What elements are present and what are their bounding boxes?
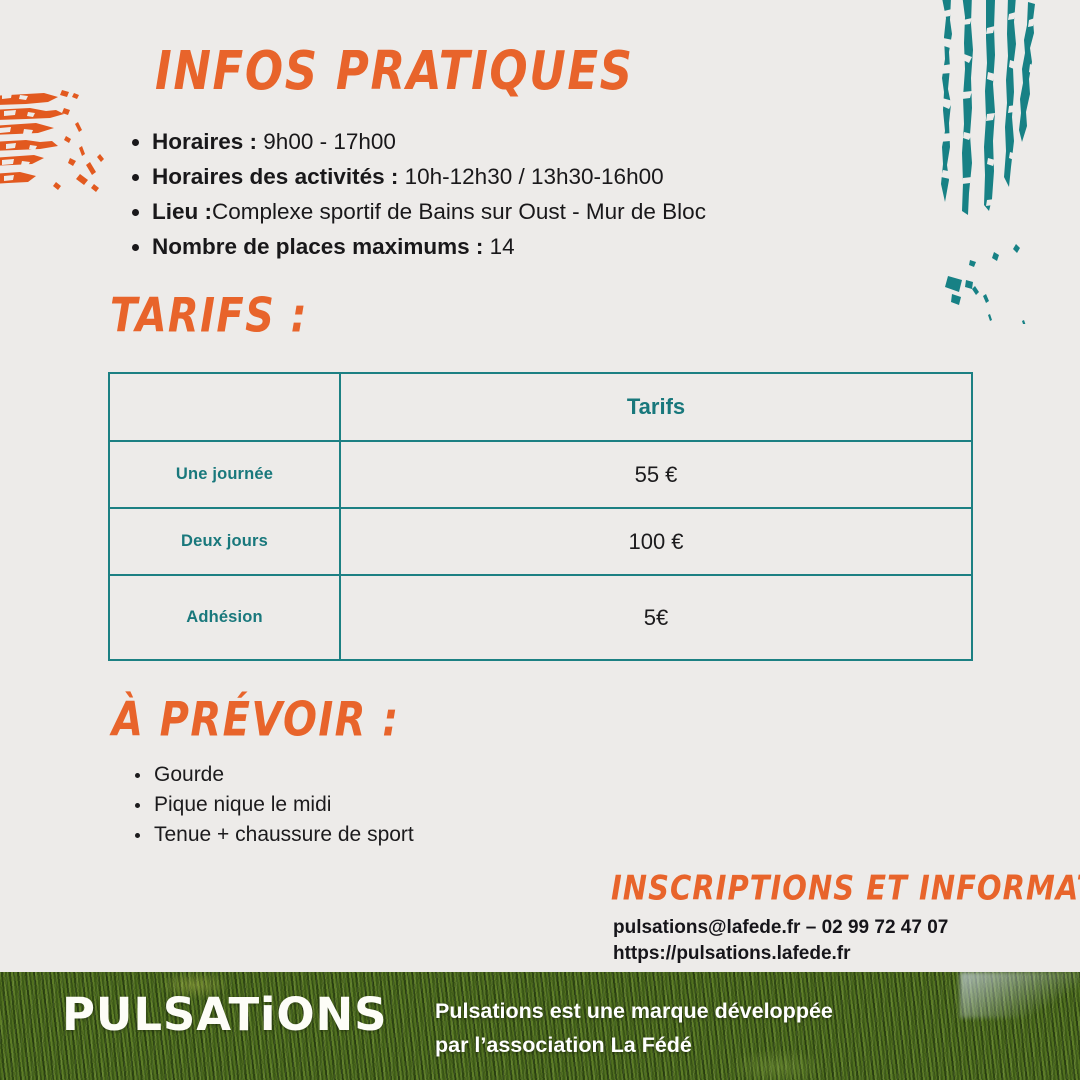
info-label: Nombre de places maximums : bbox=[152, 234, 483, 259]
tarif-value: 5€ bbox=[340, 575, 972, 660]
infos-pratiques-list: Horaires : 9h00 - 17h00 Horaires des act… bbox=[128, 124, 958, 264]
tarifs-table: Tarifs Une journée 55 € Deux jours 100 €… bbox=[108, 372, 973, 661]
table-header-tarifs: Tarifs bbox=[340, 373, 972, 441]
info-label: Lieu : bbox=[152, 199, 212, 224]
section-title-tarifs: TARIFS : bbox=[110, 292, 308, 339]
section-title-a-prevoir: À PRÉVOIR : bbox=[112, 696, 400, 743]
info-value: Complexe sportif de Bains sur Oust - Mur… bbox=[212, 199, 706, 224]
contact-website[interactable]: https://pulsations.lafede.fr bbox=[613, 941, 948, 967]
list-item: Horaires : 9h00 - 17h00 bbox=[128, 124, 958, 159]
table-row: Une journée 55 € bbox=[109, 441, 972, 508]
tarif-label: Une journée bbox=[109, 441, 340, 508]
footer-tagline: Pulsations est une marque développée par… bbox=[435, 994, 833, 1062]
table-row: Deux jours 100 € bbox=[109, 508, 972, 575]
page-title-infos-pratiques: INFOS PRATIQUES bbox=[155, 44, 634, 97]
tarif-label: Deux jours bbox=[109, 508, 340, 575]
table-header-row: Tarifs bbox=[109, 373, 972, 441]
list-item: Pique nique le midi bbox=[128, 790, 414, 820]
pulsations-logo: PULSATiONS bbox=[62, 992, 387, 1037]
orange-brush-stroke-icon bbox=[0, 88, 122, 200]
info-value: 9h00 - 17h00 bbox=[257, 129, 396, 154]
list-item: Horaires des activités : 10h-12h30 / 13h… bbox=[128, 159, 958, 194]
poster-canvas: INFOS PRATIQUES Horaires : 9h00 - 17h00 … bbox=[0, 0, 1080, 1080]
contact-block: pulsations@lafede.fr – 02 99 72 47 07 ht… bbox=[613, 915, 948, 967]
contact-email-phone[interactable]: pulsations@lafede.fr – 02 99 72 47 07 bbox=[613, 915, 948, 941]
sky-highlight bbox=[960, 972, 1080, 1018]
info-label: Horaires : bbox=[152, 129, 257, 154]
footer-banner: PULSATiONS Pulsations est une marque dév… bbox=[0, 972, 1080, 1080]
tarif-value: 55 € bbox=[340, 441, 972, 508]
table-header-empty bbox=[109, 373, 340, 441]
list-item: Gourde bbox=[128, 760, 414, 790]
a-prevoir-list: Gourde Pique nique le midi Tenue + chaus… bbox=[128, 760, 414, 850]
info-value: 14 bbox=[483, 234, 514, 259]
info-label: Horaires des activités : bbox=[152, 164, 398, 189]
section-title-inscriptions: INSCRIPTIONS ET INFORMATIONS bbox=[611, 871, 1080, 905]
info-value: 10h-12h30 / 13h30-16h00 bbox=[398, 164, 663, 189]
footer-tagline-line1: Pulsations est une marque développée bbox=[435, 994, 833, 1028]
footer-tagline-line2: par l’association La Fédé bbox=[435, 1028, 833, 1062]
list-item: Nombre de places maximums : 14 bbox=[128, 229, 958, 264]
tarif-label: Adhésion bbox=[109, 575, 340, 660]
list-item: Lieu :Complexe sportif de Bains sur Oust… bbox=[128, 194, 958, 229]
table-row: Adhésion 5€ bbox=[109, 575, 972, 660]
tarif-value: 100 € bbox=[340, 508, 972, 575]
list-item: Tenue + chaussure de sport bbox=[128, 820, 414, 850]
